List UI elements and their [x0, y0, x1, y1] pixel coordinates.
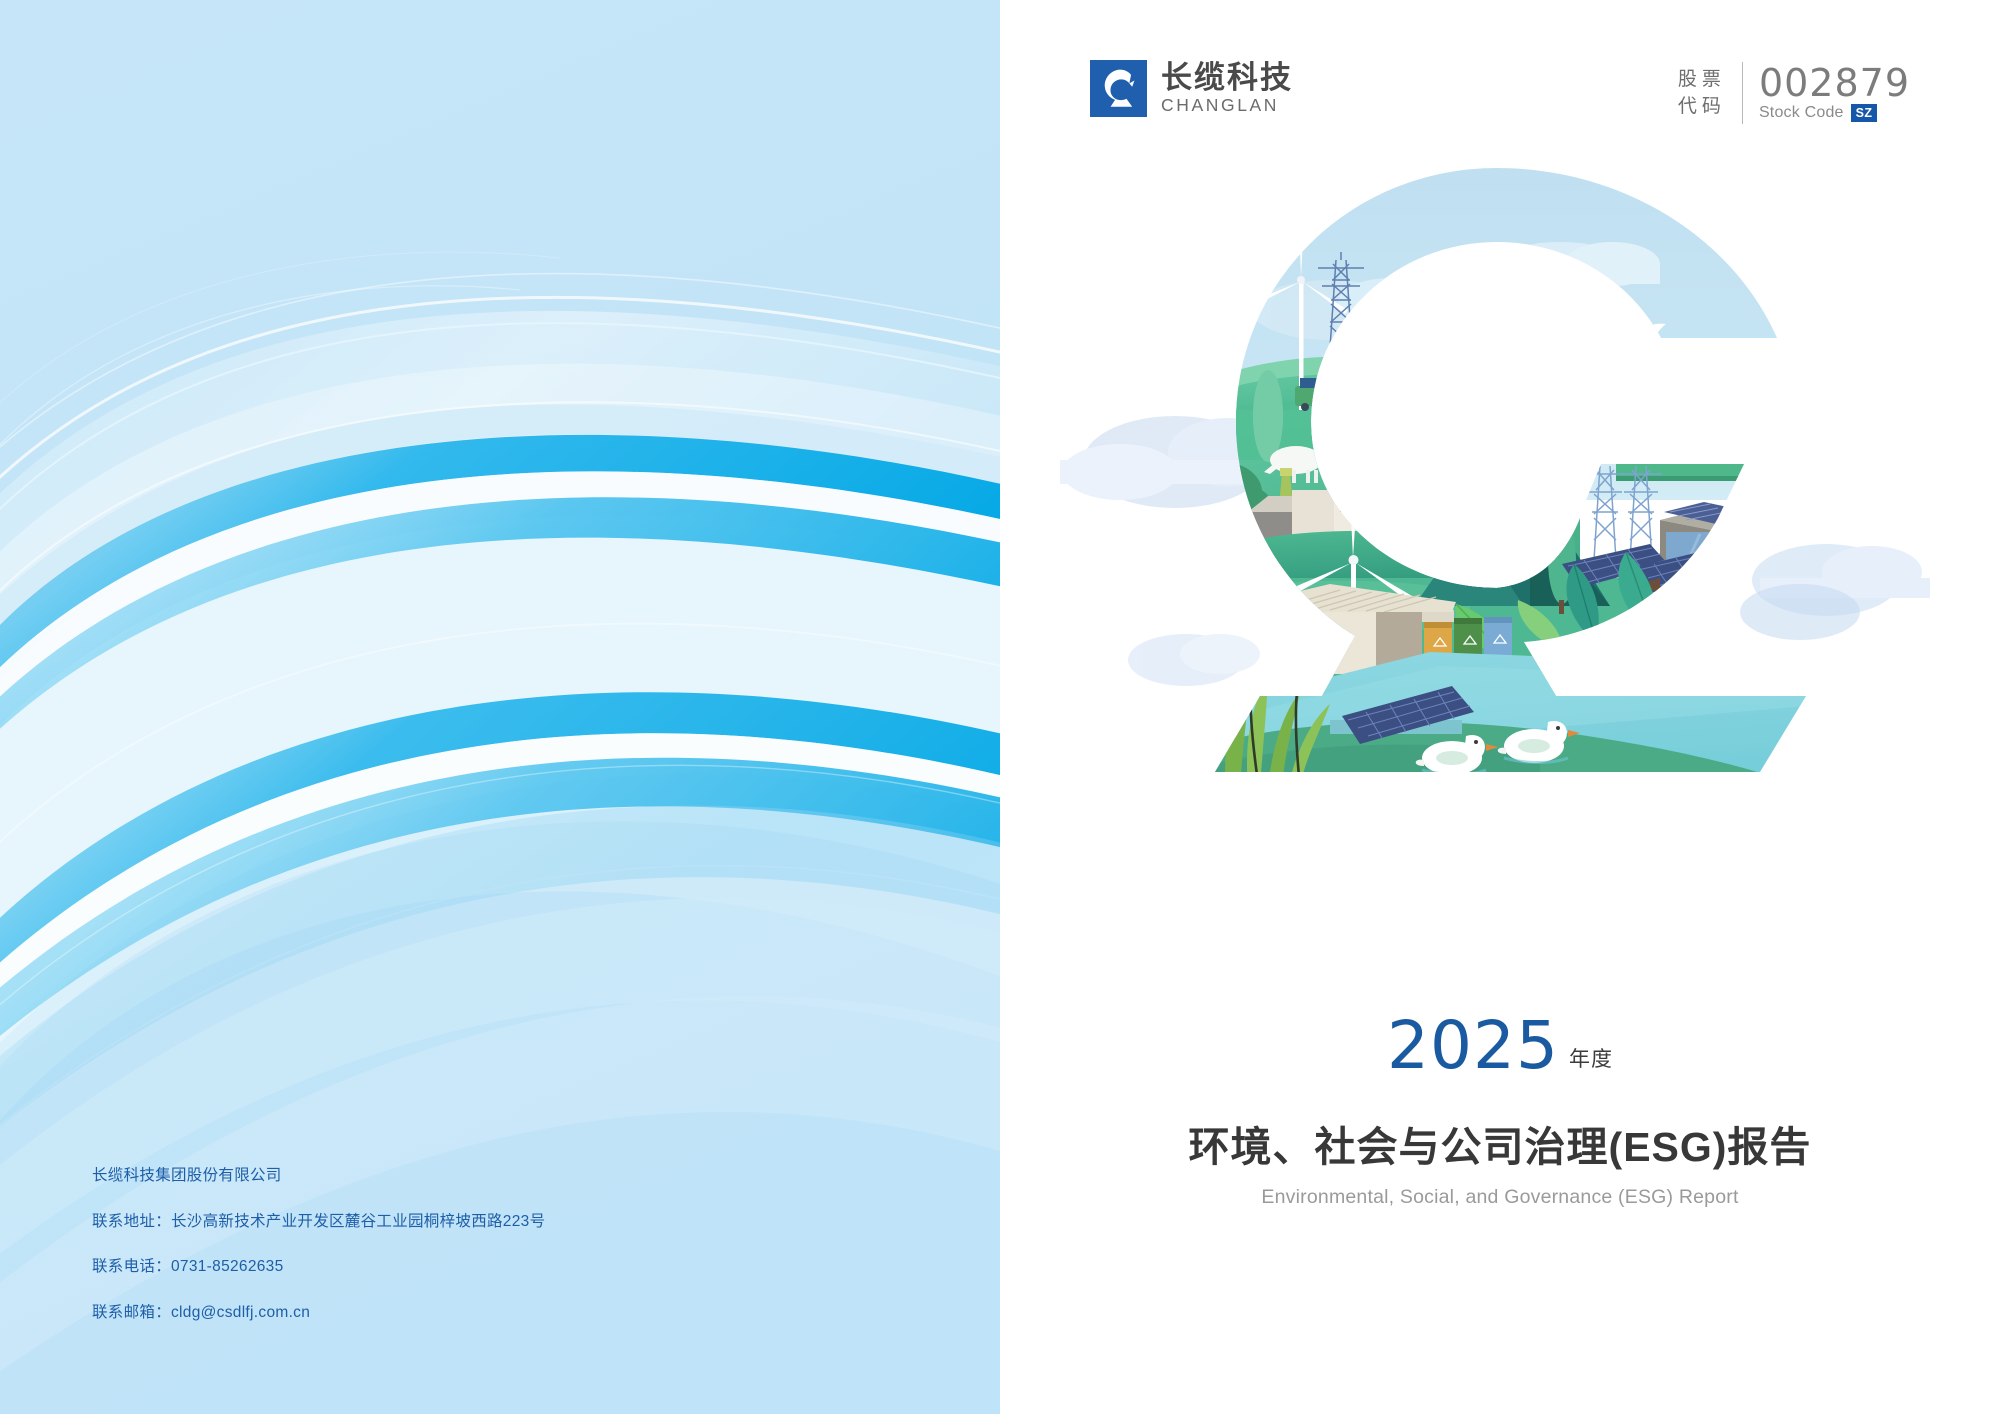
cloud-near-sun: [1436, 394, 1580, 442]
front-cover-panel: 长缆科技 CHANGLAN 股票 代码 002879 Stock Code SZ: [1000, 0, 2000, 1414]
electric-vehicle-charging: [1295, 378, 1378, 412]
background-cloud-lower-right: [1740, 584, 1860, 640]
stock-code-block: 股票 代码 002879 Stock Code SZ: [1678, 62, 1910, 124]
c-shape-scene: [1160, 160, 1900, 800]
report-year-suffix: 年度: [1569, 1049, 1613, 1078]
contact-info-block: 长缆科技集团股份有限公司 联系地址：长沙高新技术产业开发区麓谷工业园桐梓坡西路2…: [92, 1168, 892, 1350]
report-title-en: Environmental, Social, and Governance (E…: [1000, 1185, 2000, 1210]
cover-illustration: [1000, 160, 2000, 800]
contact-address: 联系地址：长沙高新技术产业开发区麓谷工业园桐梓坡西路223号: [92, 1214, 892, 1230]
stock-code-number: 002879: [1759, 64, 1910, 102]
stock-label: 股票 代码: [1678, 69, 1726, 118]
stock-value-group: 002879 Stock Code SZ: [1759, 64, 1910, 122]
stock-divider: [1742, 62, 1743, 124]
brand-text: 长缆科技 CHANGLAN: [1161, 62, 1293, 114]
brand-name-cn: 长缆科技: [1161, 62, 1293, 95]
esg-report-cover-spread: 长缆科技集团股份有限公司 联系地址：长沙高新技术产业开发区麓谷工业园桐梓坡西路2…: [0, 0, 2000, 1414]
contact-email: 联系邮箱：cldg@csdlfj.com.cn: [92, 1305, 892, 1321]
energy-storage-station: [1660, 502, 1760, 612]
brand-name-en: CHANGLAN: [1161, 97, 1293, 115]
report-title-cn: 环境、社会与公司治理(ESG)报告: [1000, 1123, 2000, 1172]
contact-phone: 联系电话：0731-85262635: [92, 1259, 892, 1275]
stock-sub-row: Stock Code SZ: [1759, 104, 1910, 122]
esg-eco-landscape-c-logo-illustration: [1000, 160, 2000, 800]
report-year-row: 2025 年度: [1000, 1015, 2000, 1078]
exchange-badge: SZ: [1851, 104, 1878, 121]
contact-company-name: 长缆科技集团股份有限公司: [92, 1168, 892, 1184]
hill-far: [1180, 357, 1470, 406]
cover-header: 长缆科技 CHANGLAN 股票 代码 002879 Stock Code SZ: [1000, 60, 2000, 140]
report-year: 2025: [1387, 1015, 1559, 1078]
background-cloud-bottom-left: [1128, 634, 1260, 686]
back-cover-panel: 长缆科技集团股份有限公司 联系地址：长沙高新技术产业开发区麓谷工业园桐梓坡西路2…: [0, 0, 1000, 1414]
flying-bird-mid-icon: [1420, 542, 1472, 580]
brand-lockup: 长缆科技 CHANGLAN: [1090, 60, 1293, 117]
stock-code-en-label: Stock Code: [1759, 104, 1844, 122]
cypress-tree: [1253, 370, 1283, 462]
changlan-c-logo-icon: [1090, 60, 1147, 117]
sun: [1521, 372, 1569, 420]
stock-label-line1: 股票: [1678, 69, 1726, 91]
solar-panel-hill: [1352, 422, 1440, 456]
tree-cluster-upper: [1362, 346, 1442, 426]
stock-label-line2: 代码: [1678, 96, 1726, 118]
father-and-child-flying-kite: [1360, 428, 1462, 513]
